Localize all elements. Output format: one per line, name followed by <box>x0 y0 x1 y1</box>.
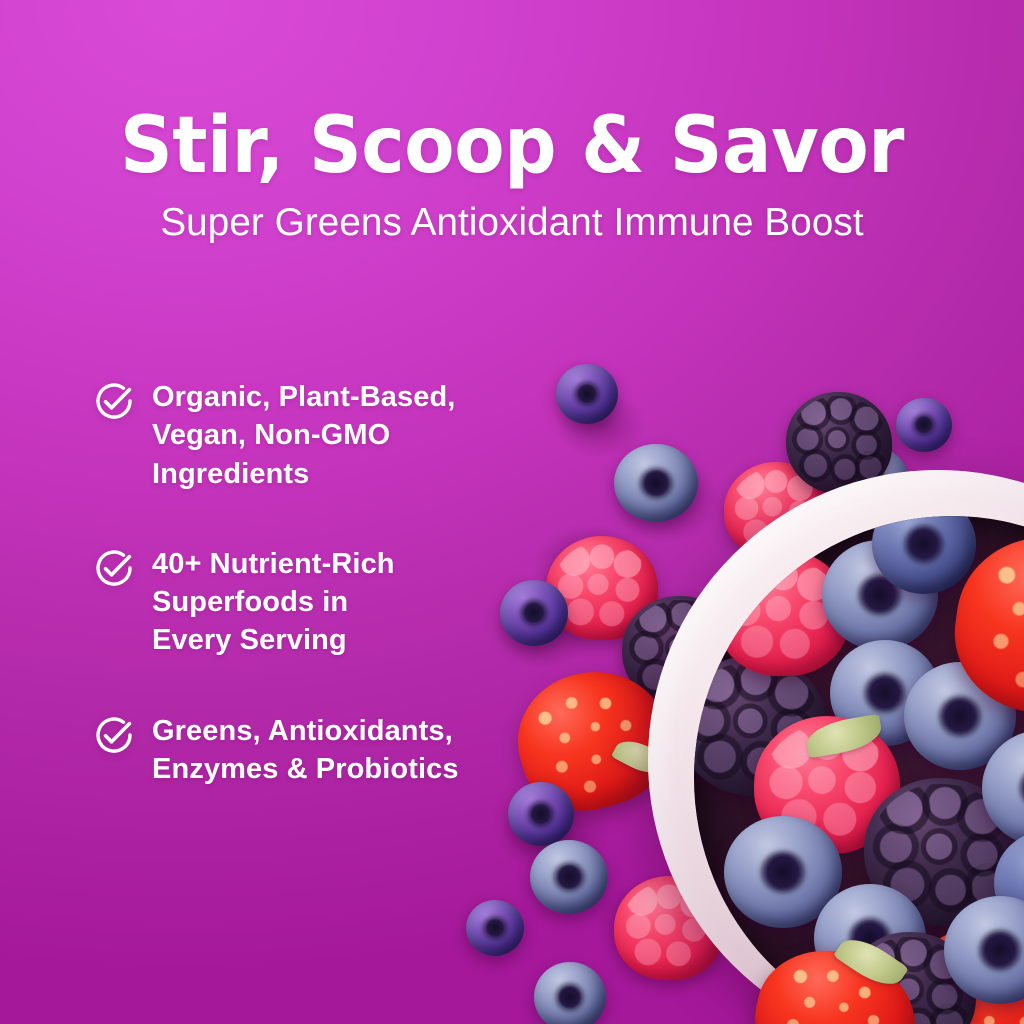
berry-blackberry <box>622 596 740 708</box>
berry-blueberry <box>466 900 524 956</box>
poster-canvas: Stir, Scoop & Savor Super Greens Antioxi… <box>0 0 1024 1024</box>
berry-shadow <box>534 524 644 602</box>
berry-raspberry <box>614 876 724 980</box>
benefit-item-2: 40+ Nutrient-Rich Superfoods in Every Se… <box>92 545 522 660</box>
berry-blueberry <box>982 730 1024 846</box>
berry-raspberry <box>724 462 828 558</box>
headline-block: Stir, Scoop & Savor Super Greens Antioxi… <box>0 108 1024 245</box>
strawberry-leaf <box>611 733 669 780</box>
berry-blueberry <box>994 830 1024 936</box>
bowl-interior <box>694 516 1024 1024</box>
berry-blueberry <box>896 398 952 452</box>
benefits-list: Organic, Plant-Based, Vegan, Non-GMO Ing… <box>92 378 522 788</box>
berry-blackberry <box>846 932 976 1024</box>
berry-blackberry <box>864 778 1020 926</box>
berry-shadow <box>596 880 716 964</box>
berry-blueberry <box>530 840 608 914</box>
berry-blueberry <box>944 896 1024 1004</box>
berry-blueberry <box>822 540 938 650</box>
berry-shadow <box>500 796 610 876</box>
berry-strawberry <box>945 526 1024 727</box>
berry-bowl <box>648 470 1024 1024</box>
benefit-item-1: Organic, Plant-Based, Vegan, Non-GMO Ing… <box>92 378 522 493</box>
berry-blueberry <box>830 640 940 746</box>
raspberry-leaf <box>804 714 884 759</box>
benefit-item-3: Greens, Antioxidants, Enzymes & Probioti… <box>92 712 522 789</box>
check-circle-icon <box>92 547 136 591</box>
berry-strawberry <box>744 937 928 1024</box>
berry-blackberry <box>694 656 828 796</box>
berry-raspberry <box>546 536 658 640</box>
benefit-label: Greens, Antioxidants, Enzymes & Probioti… <box>152 712 459 789</box>
berry-shadow <box>556 392 646 458</box>
berry-blueberry <box>534 962 606 1024</box>
benefit-label: Organic, Plant-Based, Vegan, Non-GMO Ing… <box>152 378 455 493</box>
berry-strawberry <box>502 654 684 826</box>
page-title: Stir, Scoop & Savor <box>31 108 994 184</box>
berry-blueberry <box>814 884 926 992</box>
berry-blueberry <box>904 662 1016 770</box>
berry-raspberry <box>716 550 850 676</box>
berry-blueberry <box>508 782 574 846</box>
berry-shadow <box>612 462 722 542</box>
berry-blueberry <box>872 516 976 594</box>
check-circle-icon <box>92 714 136 758</box>
berry-strawberry <box>899 916 1024 1024</box>
berry-blueberry <box>724 816 842 928</box>
strawberry-leaf <box>833 929 909 995</box>
berry-blueberry <box>556 364 618 424</box>
check-circle-icon <box>92 380 136 424</box>
berry-raspberry <box>754 716 900 854</box>
berry-blackberry <box>786 392 892 494</box>
berry-blueberry <box>832 446 910 520</box>
benefit-label: 40+ Nutrient-Rich Superfoods in Every Se… <box>152 545 395 660</box>
page-subtitle: Super Greens Antioxidant Immune Boost <box>5 202 1019 245</box>
berry-blueberry <box>614 444 698 522</box>
